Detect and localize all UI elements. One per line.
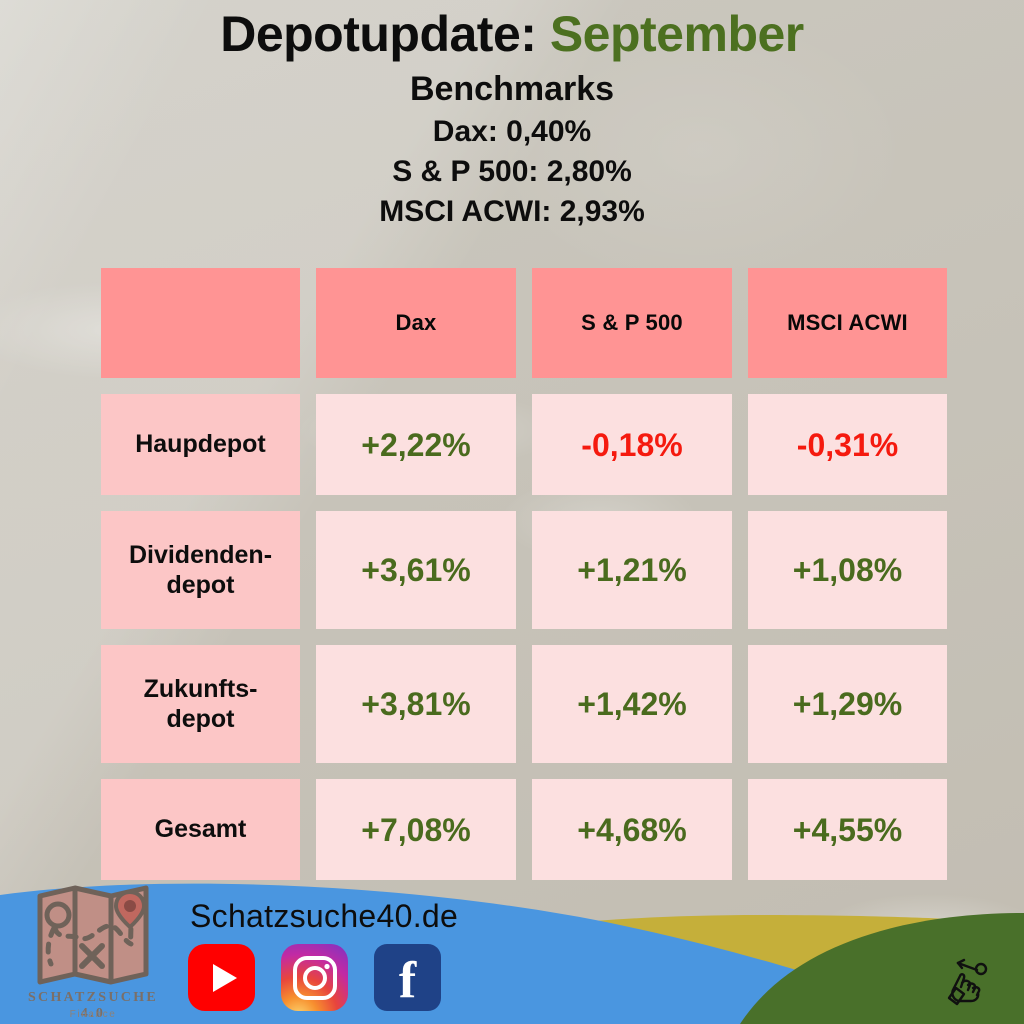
page-title-month: September — [550, 6, 804, 62]
logo-brand-tagline: Finance — [18, 1009, 168, 1020]
benchmark-dax: Dax: 0,40% — [0, 115, 1024, 148]
table-cell-dividendendepot-dax: +3,61% — [316, 511, 516, 629]
brand-logo: SCHATZSUCHE 4.0 Finance — [18, 882, 168, 1024]
value-text: +3,61% — [361, 554, 470, 586]
page-title-prefix: Depotupdate: — [220, 6, 536, 62]
row-label-text: Haupdepot — [135, 429, 266, 460]
row-label-text: Dividenden- depot — [129, 540, 272, 601]
table-cell-gesamt-dax: +7,08% — [316, 779, 516, 880]
row-label-line2: depot — [166, 571, 234, 599]
table-header-dax: Dax — [316, 268, 516, 378]
value-text: +4,55% — [793, 814, 902, 846]
row-label-text: Gesamt — [155, 814, 247, 845]
table-header-msci-acwi-label: MSCI ACWI — [787, 310, 908, 336]
benchmark-msci-acwi: MSCI ACWI: 2,93% — [0, 195, 1024, 228]
value-text: +1,21% — [577, 554, 686, 586]
value-text: +2,22% — [361, 429, 470, 461]
value-text: -0,31% — [797, 429, 898, 461]
table-cell-gesamt-sp500: +4,68% — [532, 779, 732, 880]
table-cell-haupdepot-msci-acwi: -0,31% — [748, 394, 947, 495]
table-cell-haupdepot-dax: +2,22% — [316, 394, 516, 495]
table-cell-dividendendepot-sp500: +1,21% — [532, 511, 732, 629]
table-header-msci-acwi: MSCI ACWI — [748, 268, 947, 378]
facebook-icon[interactable]: f — [374, 944, 441, 1011]
table-cell-dividendendepot-msci-acwi: +1,08% — [748, 511, 947, 629]
youtube-icon[interactable] — [188, 944, 255, 1011]
map-pin-dot — [124, 900, 136, 912]
table-cell-haupdepot-sp500: -0,18% — [532, 394, 732, 495]
value-text: +1,42% — [577, 688, 686, 720]
table-corner-cell — [101, 268, 300, 378]
table-cell-gesamt-msci-acwi: +4,55% — [748, 779, 947, 880]
table-cell-zukunftsdepot-dax: +3,81% — [316, 645, 516, 763]
value-text: +3,81% — [361, 688, 470, 720]
benchmark-sp500: S & P 500: 2,80% — [0, 155, 1024, 188]
value-text: +4,68% — [577, 814, 686, 846]
table-row-label-dividendendepot: Dividenden- depot — [101, 511, 300, 629]
value-text: +7,08% — [361, 814, 470, 846]
table-header-dax-label: Dax — [396, 310, 437, 336]
table-row-label-gesamt: Gesamt — [101, 779, 300, 880]
row-label-text: Zukunfts- depot — [144, 674, 258, 735]
value-text: -0,18% — [581, 429, 682, 461]
row-label-line2: depot — [166, 705, 234, 733]
site-url[interactable]: Schatzsuche40.de — [190, 898, 458, 935]
table-cell-zukunftsdepot-msci-acwi: +1,29% — [748, 645, 947, 763]
social-links: f — [188, 944, 441, 1011]
table-row-label-haupdepot: Haupdepot — [101, 394, 300, 495]
play-triangle-icon — [213, 964, 237, 992]
value-text: +1,08% — [793, 554, 902, 586]
hand-pointer-icon — [940, 952, 996, 1013]
row-label-line1: Zukunfts- — [144, 675, 258, 703]
table-header-sp500-label: S & P 500 — [581, 310, 683, 336]
page-title: Depotupdate: September — [0, 8, 1024, 61]
instagram-icon[interactable] — [281, 944, 348, 1011]
instagram-glyph — [290, 953, 340, 1003]
benchmarks-heading: Benchmarks — [0, 71, 1024, 108]
performance-table: Dax S & P 500 MSCI ACWI Haupdepot +2,22%… — [101, 268, 947, 880]
header-block: Depotupdate: September Benchmarks Dax: 0… — [0, 0, 1024, 228]
value-text: +1,29% — [793, 688, 902, 720]
folded-map-icon — [18, 882, 168, 987]
table-cell-zukunftsdepot-sp500: +1,42% — [532, 645, 732, 763]
table-header-sp500: S & P 500 — [532, 268, 732, 378]
facebook-f-glyph: f — [399, 955, 416, 1007]
table-row-label-zukunftsdepot: Zukunfts- depot — [101, 645, 300, 763]
row-label-line1: Dividenden- — [129, 541, 272, 569]
